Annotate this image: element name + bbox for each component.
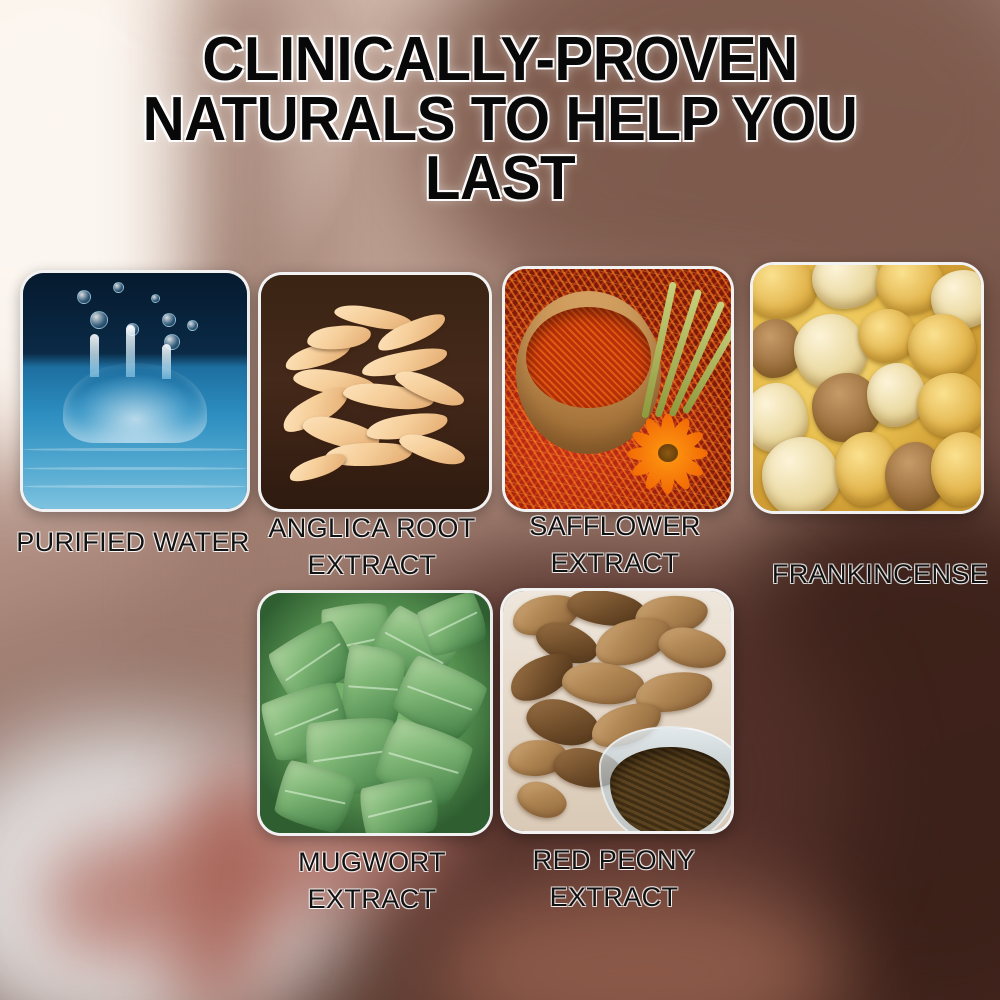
resin-nugget (917, 373, 984, 437)
water-bubble (77, 290, 91, 304)
peony-root-slice (560, 659, 646, 708)
water-ripple (23, 448, 247, 451)
resin-nugget (931, 432, 984, 506)
ingredient-caption-red-peony-extract: RED PEONY EXTRACT (494, 842, 734, 917)
water-ripple (23, 485, 247, 488)
root-chip (396, 429, 468, 470)
ingredient-card-anglica-root-extract (258, 272, 492, 512)
resin-nugget (812, 262, 880, 309)
ingredient-image-safflower-extract (505, 269, 731, 509)
peony-root-slice (512, 775, 571, 824)
ingredient-caption-mugwort-extract: MUGWORT EXTRACT (250, 844, 494, 919)
ingredient-image-mugwort-extract (260, 593, 490, 833)
resin-nugget (750, 262, 817, 319)
ingredient-card-mugwort-extract (257, 590, 493, 836)
ingredient-caption-purified-water: PURIFIED WATER (0, 524, 266, 561)
resin-nugget (762, 437, 840, 514)
ingredient-image-purified-water (23, 273, 247, 509)
water-bubble (151, 294, 160, 303)
ingredient-image-frankincense (753, 265, 981, 511)
bowl-contents (526, 307, 650, 408)
flower-center (658, 444, 678, 462)
ingredient-card-frankincense (750, 262, 984, 514)
ingredient-caption-anglica-root-extract: ANGLICA ROOT EXTRACT (250, 510, 494, 585)
ingredient-card-safflower-extract (502, 266, 734, 512)
ingredient-poster: CLINICALLY-PROVEN NATURALS TO HELP YOU L… (0, 0, 1000, 1000)
ingredient-card-red-peony-extract (500, 588, 734, 834)
water-bubble (162, 313, 176, 327)
resin-nugget (908, 314, 976, 378)
root-chip (287, 448, 349, 486)
safflower-bloom (623, 413, 713, 495)
poster-headline: CLINICALLY-PROVEN NATURALS TO HELP YOU L… (30, 30, 970, 209)
water-splash-crown (63, 363, 206, 443)
water-bubble (113, 282, 124, 293)
peony-powder (610, 747, 730, 834)
glass-bowl (599, 726, 734, 834)
ingredient-image-anglica-root-extract (261, 275, 489, 509)
ingredient-caption-safflower-extract: SAFFLOWER EXTRACT (493, 508, 737, 583)
ingredient-image-red-peony-extract (503, 591, 731, 831)
ingredient-caption-frankincense: FRANKINCENSE (760, 556, 1000, 593)
water-ripple (23, 467, 247, 470)
ingredient-card-purified-water (20, 270, 250, 512)
water-bubble (90, 311, 108, 329)
water-bubble (187, 320, 198, 331)
